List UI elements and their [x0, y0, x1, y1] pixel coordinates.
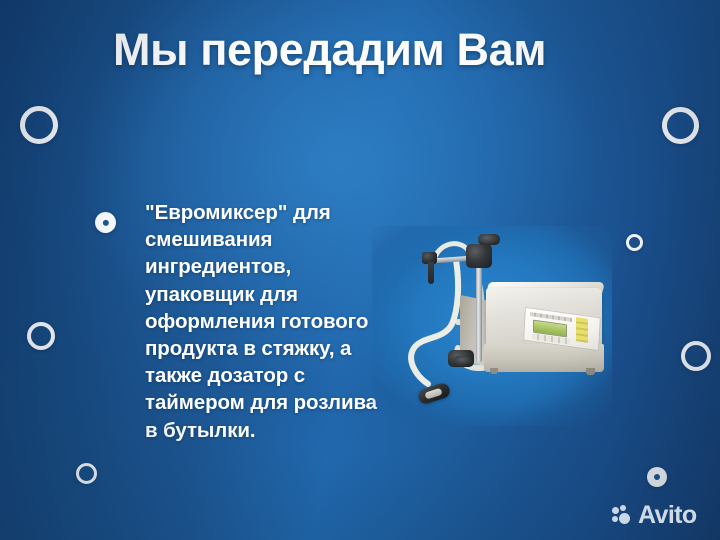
avito-watermark: Avito [612, 503, 697, 528]
product-photo [372, 226, 612, 426]
decor-ring-top-right [662, 107, 699, 144]
clamp-upper [466, 244, 492, 268]
nozzle [428, 262, 434, 284]
bullet-donut-icon [95, 212, 116, 233]
page-title: Мы передадим Вам [113, 22, 673, 78]
decor-ring-mid-right [626, 234, 643, 251]
clamp-knob-lower [454, 356, 473, 366]
decor-ring-bottom-left [76, 463, 97, 484]
avito-dots-icon [612, 505, 633, 526]
decor-donut-bottom-right [647, 467, 667, 487]
decor-ring-low-right [681, 341, 711, 371]
chrome-post [476, 254, 482, 362]
machine-foot [490, 368, 498, 374]
promo-slide: Мы передадим Вам "Евромиксер" для смешив… [0, 0, 720, 540]
decor-ring-mid-left [27, 322, 55, 350]
body-paragraph: "Евромиксер" для смешивания ингредиентов… [145, 199, 377, 444]
avito-wordmark: Avito [638, 503, 697, 528]
yellow-keypad [576, 317, 588, 343]
decor-ring-top-left [20, 106, 58, 144]
machine-foot [586, 368, 595, 375]
clamp-knob-upper [478, 234, 500, 245]
